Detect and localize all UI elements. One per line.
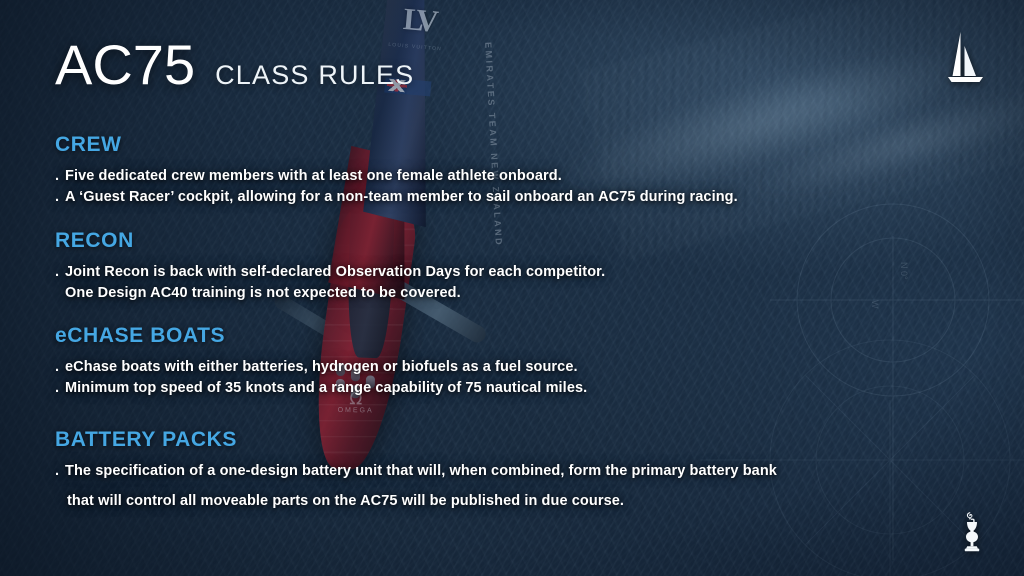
americas-cup-trophy-icon: [960, 510, 984, 554]
bullet-item: .The specification of a one-design batte…: [55, 461, 777, 482]
bullet-text: A ‘Guest Racer’ cockpit, allowing for a …: [65, 189, 738, 205]
sailboat-icon: [943, 30, 989, 86]
bullet-item: .A ‘Guest Racer’ cockpit, allowing for a…: [55, 187, 738, 208]
bullet-continuation: that will control all moveable parts on …: [55, 491, 777, 512]
bullet-text: Minimum top speed of 35 knots and a rang…: [65, 380, 587, 396]
section-recon: RECON .Joint Recon is back with self-dec…: [55, 229, 605, 304]
bullet-item: .Minimum top speed of 35 knots and a ran…: [55, 378, 587, 399]
bullet-item: .Joint Recon is back with self-declared …: [55, 262, 605, 283]
bullet-text: The specification of a one-design batter…: [65, 463, 777, 479]
section-heading-crew: CREW: [55, 133, 738, 157]
title-ac75: AC75: [55, 36, 195, 94]
slide-content: AC75 CLASS RULES CREW .Five dedicated cr…: [0, 0, 1024, 576]
section-heading-echase-boats: eCHASE BOATS: [55, 324, 587, 348]
slide-title: AC75 CLASS RULES: [55, 36, 414, 94]
bullet-text: eChase boats with either batteries, hydr…: [65, 359, 578, 375]
title-class-rules: CLASS RULES: [215, 60, 414, 91]
bullet-text: Joint Recon is back with self-declared O…: [65, 264, 605, 280]
section-echase-boats: eCHASE BOATS .eChase boats with either b…: [55, 324, 587, 399]
section-battery-packs: BATTERY PACKS .The specification of a on…: [55, 428, 777, 512]
section-heading-recon: RECON: [55, 229, 605, 253]
bullet-item: .Five dedicated crew members with at lea…: [55, 166, 738, 187]
section-crew: CREW .Five dedicated crew members with a…: [55, 133, 738, 208]
bullet-text: Five dedicated crew members with at leas…: [65, 168, 562, 184]
bullet-continuation: One Design AC40 training is not expected…: [55, 283, 605, 304]
ac75-class-rules-slide: LV LOUIS VUITTON EMIRATES TEAM NEW ZEALA…: [0, 0, 1024, 576]
bullet-item: .eChase boats with either batteries, hyd…: [55, 357, 587, 378]
section-heading-battery-packs: BATTERY PACKS: [55, 428, 777, 452]
